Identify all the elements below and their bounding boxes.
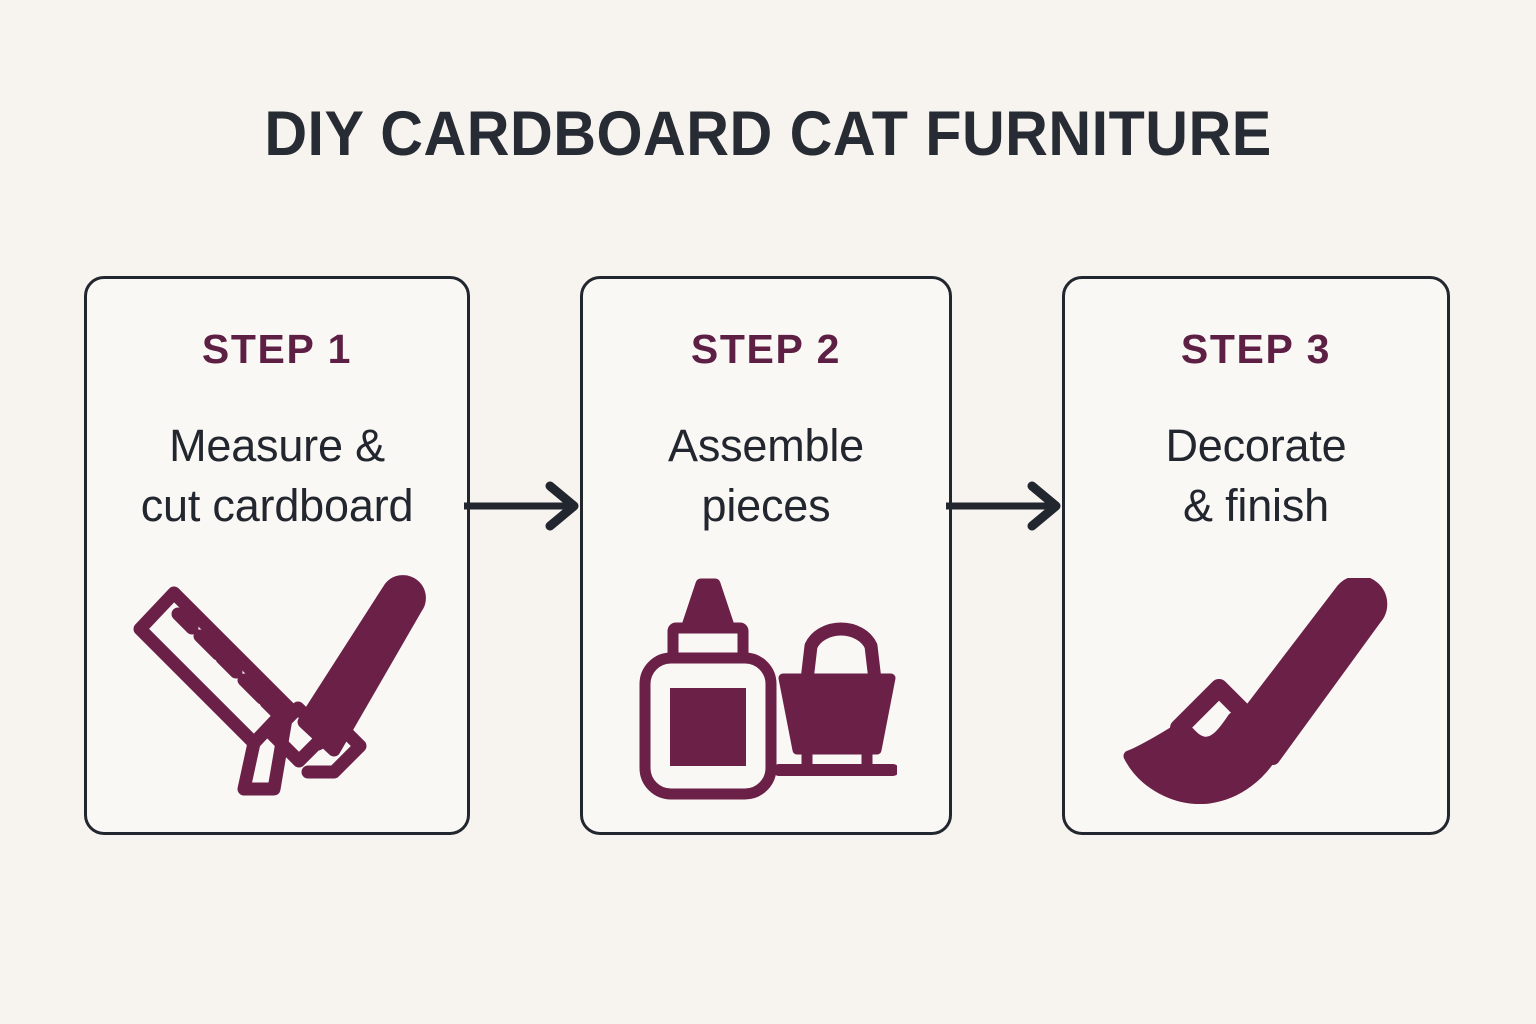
step-description: Decorate & finish — [1156, 416, 1357, 536]
step-icon-wrapper — [1065, 578, 1447, 804]
step-card-2[interactable]: STEP 2 Assemble pieces — [580, 276, 952, 835]
arrow-step2-to-step3 — [946, 476, 1066, 536]
infographic-canvas: DIY CARDBOARD CAT FURNITURE STEP 1 Measu… — [0, 0, 1536, 1024]
steps-row: STEP 1 Measure & cut cardboard — [84, 276, 1450, 836]
step-label: STEP 2 — [691, 326, 841, 372]
step-label: STEP 3 — [1181, 326, 1331, 372]
step-description: Assemble pieces — [658, 416, 874, 536]
glue-bottle-and-binder-clip-icon — [635, 578, 897, 804]
step-icon-wrapper — [87, 574, 467, 804]
step-description: Measure & cut cardboard — [131, 416, 424, 536]
page-title: DIY CARDBOARD CAT FURNITURE — [46, 100, 1490, 168]
step-label: STEP 1 — [202, 326, 352, 372]
paintbrush-icon — [1121, 578, 1391, 804]
arrow-right-icon — [946, 476, 1066, 536]
ruler-and-craft-knife-icon — [122, 574, 432, 804]
arrow-right-icon — [464, 476, 584, 536]
step-card-1[interactable]: STEP 1 Measure & cut cardboard — [84, 276, 470, 835]
step-icon-wrapper — [583, 578, 949, 804]
step-card-3[interactable]: STEP 3 Decorate & finish — [1062, 276, 1450, 835]
arrow-step1-to-step2 — [464, 476, 584, 536]
